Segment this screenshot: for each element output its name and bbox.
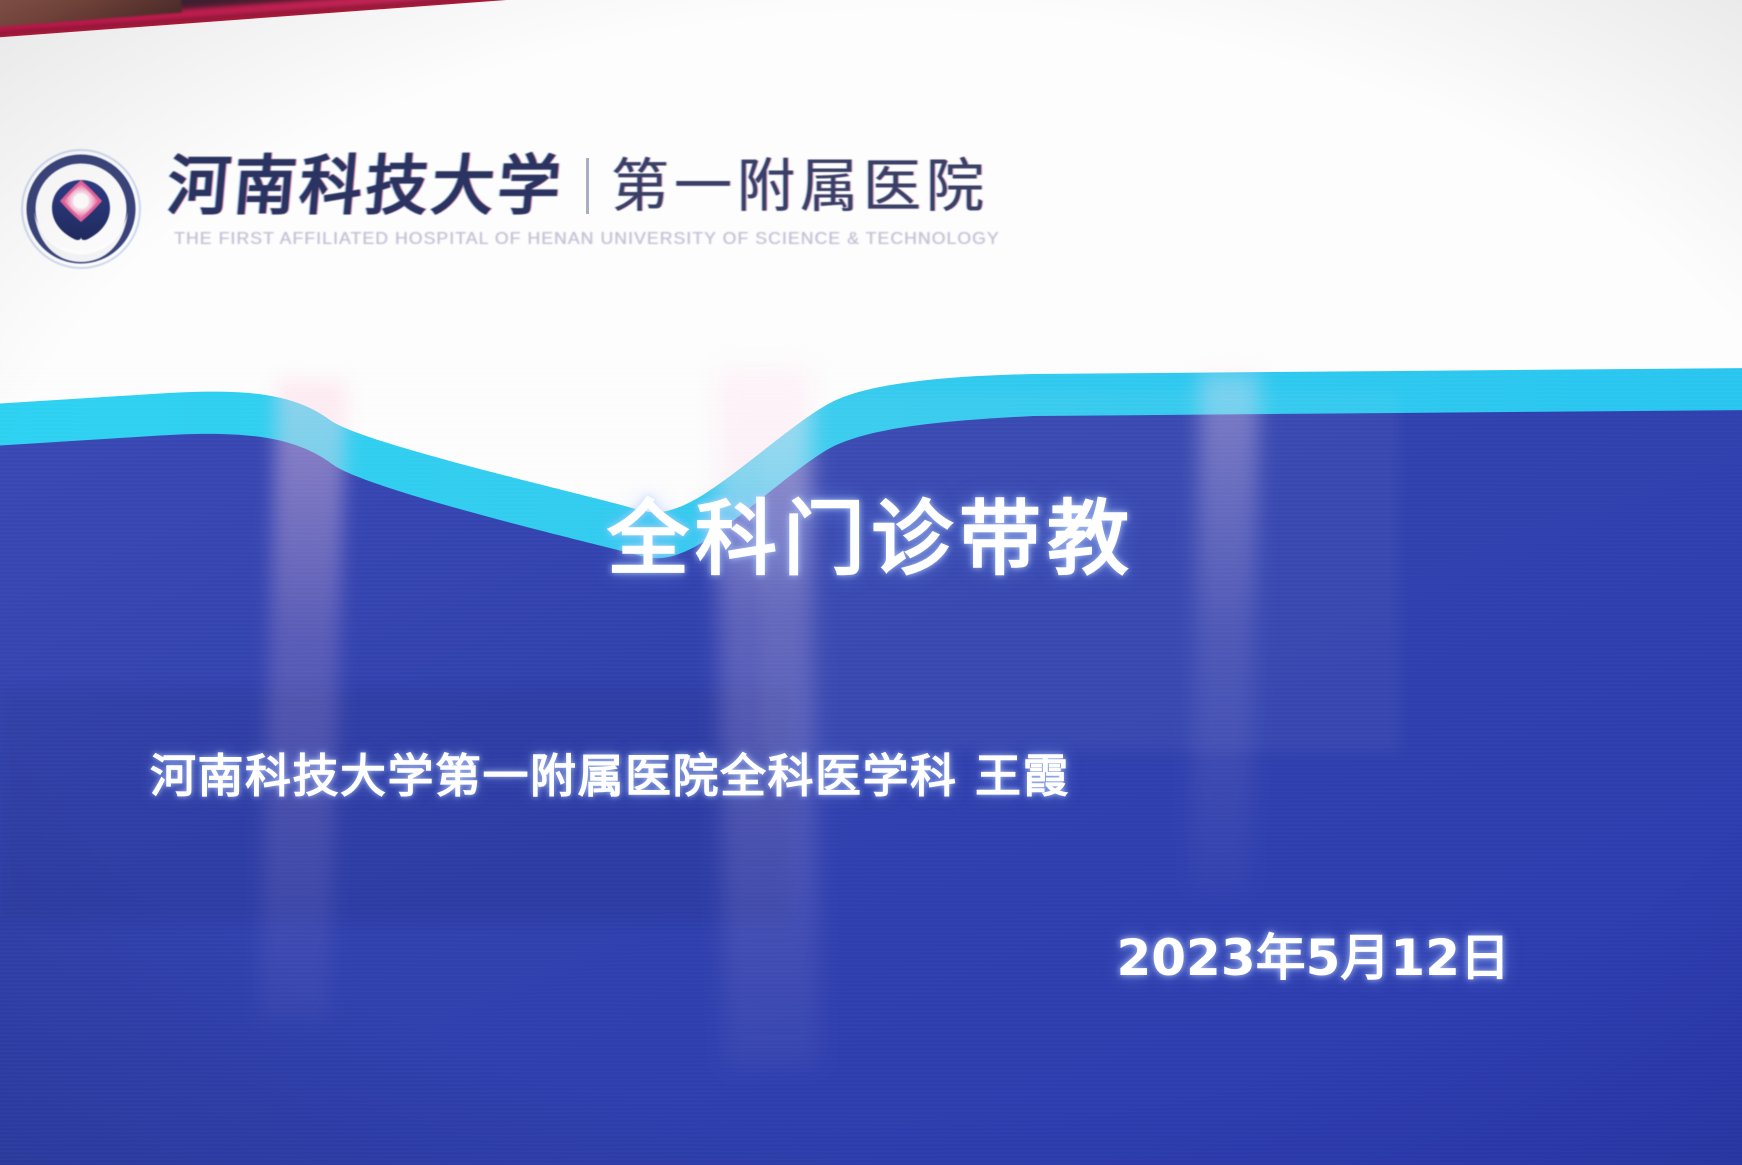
wordmark-english-subtitle: THE FIRST AFFILIATED HOSPITAL OF HENAN U… [174,228,1000,249]
wordmark-divider [586,158,589,214]
slide-date: 2023年5月12日 [1116,918,1510,990]
wordmark-hospital-name: 第一附属医院 [611,157,989,215]
hospital-wordmark: 河南科技大学 第一附属医院 THE FIRST AFFILIATED HOSPI… [168,142,1000,249]
slide-photograph: 河南科技大学 第一附属医院 THE FIRST AFFILIATED HOSPI… [0,0,1742,1165]
hospital-logo-lockup: 河南科技大学 第一附属医院 THE FIRST AFFILIATED HOSPI… [18,142,1000,272]
wordmark-university-name: 河南科技大学 [165,154,567,218]
slide-title: 全科门诊带教 [0,472,1742,591]
slide-subtitle-presenter: 河南科技大学第一附属医院全科医学科 王霞 [150,740,1070,806]
hospital-emblem-icon [18,146,144,272]
